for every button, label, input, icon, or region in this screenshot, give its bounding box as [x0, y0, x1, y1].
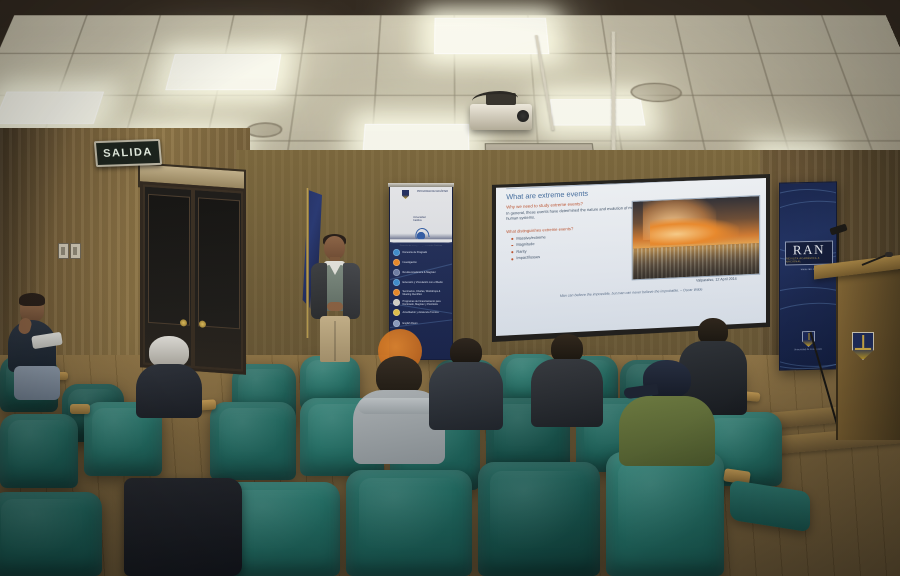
- list-item-label: English Room: [403, 322, 418, 325]
- list-item-label: Revista Académica & Magíster: [403, 271, 436, 274]
- seminar-icon: [393, 289, 400, 296]
- projector-cable: [472, 91, 518, 108]
- auditorium-seat[interactable]: [606, 452, 724, 576]
- list-item-label: Programas de Financiamiento para Doctora…: [403, 300, 450, 306]
- attendee-hair: [19, 293, 45, 306]
- outreach-icon: [393, 279, 400, 286]
- fire-glow: [650, 216, 739, 246]
- projection-screen: Introduction to Extreme Value Theory 4 /…: [496, 178, 766, 336]
- list-item: Seminarios, Charlas, Workshops & Meeting…: [393, 289, 449, 296]
- attendee-torso: [429, 362, 503, 430]
- ceiling-light-panel: [434, 18, 549, 54]
- auditorium-seat[interactable]: [0, 492, 102, 576]
- presentation-slide: Introduction to Extreme Value Theory 4 /…: [496, 178, 766, 336]
- gooseneck-microphone: [862, 248, 892, 274]
- attendee-dark-jacket: [428, 338, 504, 430]
- accreditation-icon: [393, 309, 400, 316]
- presenter-hands: [327, 302, 343, 311]
- projector-lens: [517, 110, 529, 122]
- seat-armrest: [70, 404, 90, 414]
- research-icon: [393, 259, 400, 266]
- attendee-legs: [14, 366, 60, 400]
- list-item: Programas de Financiamiento para Doctora…: [393, 299, 449, 306]
- exit-sign: SALIDA: [94, 139, 162, 167]
- attendee-taking-notes: [2, 296, 62, 400]
- banner-service-list: Docencia de Posgrado Investigación Revis…: [393, 249, 449, 330]
- list-item: Acreditación y Asistencia Técnica: [393, 309, 449, 316]
- list-item: Docencia de Posgrado: [393, 249, 449, 256]
- ran-wordmark-box: RAN REVISTA ACADÉMICA & NACIONAL: [785, 240, 833, 265]
- slide-quote: Man can believe the impossible, but man …: [527, 286, 736, 301]
- list-item-label: Investigación: [403, 261, 417, 264]
- list-item-label: Acreditación y Asistencia Técnica: [403, 311, 439, 314]
- light-switch[interactable]: [70, 243, 81, 259]
- auditorium-seat[interactable]: [478, 462, 600, 576]
- presenter-blazer-left: [311, 263, 327, 319]
- program-logo-icon: [414, 228, 428, 241]
- english-room-icon: [393, 320, 400, 327]
- list-item: Revista Académica & Magíster: [393, 269, 449, 276]
- exit-sign-label: SALIDA: [103, 146, 153, 160]
- funding-icon: [393, 299, 400, 306]
- ceiling-light-panel: [0, 92, 104, 124]
- presenter-blazer-right: [343, 263, 360, 319]
- teaching-icon: [393, 249, 400, 256]
- ceiling-light-panel: [550, 99, 645, 125]
- presenter-speaking: [306, 236, 366, 360]
- journal-icon: [393, 269, 400, 276]
- ceiling-light-panel: [165, 54, 281, 90]
- attendee-grey-hair: [134, 336, 204, 416]
- list-item-label: Seminarios, Charlas, Workshops & Meeting…: [403, 290, 450, 296]
- list-item-label: Docencia de Posgrado: [403, 251, 428, 254]
- lecture-hall-photograph: SALIDA PROGRAMA DE MAGÍSTER Universidad …: [0, 0, 900, 576]
- ran-wordmark: RAN: [793, 242, 825, 256]
- attendee-navy-cap: [618, 352, 716, 462]
- auditorium-seat[interactable]: [346, 470, 472, 576]
- door-glass: [148, 194, 190, 326]
- list-item: Extensión y Vinculación con el Medio: [393, 279, 449, 286]
- photo-caption: Valparaíso, 12 April 2014: [696, 277, 737, 283]
- list-item: Investigación: [393, 259, 449, 266]
- door-glass: [198, 197, 240, 329]
- program-rollup-banner: PROGRAMA DE MAGÍSTER Universidad Católic…: [389, 186, 453, 360]
- wildfire-photograph: [632, 195, 761, 280]
- banner-program-code: PROGRAMA DE MAGÍSTER: [417, 190, 448, 193]
- ceiling-projector: [470, 104, 532, 130]
- auditorium-seat[interactable]: [0, 414, 78, 488]
- university-crest-icon: [852, 332, 874, 360]
- attendee-olive-jacket: [619, 396, 715, 466]
- banner-top-rail: [779, 181, 837, 183]
- ceiling-light-panel: [362, 124, 469, 153]
- light-switch[interactable]: [58, 243, 69, 259]
- attendee-torso: [531, 359, 603, 427]
- draped-coat: [124, 478, 242, 576]
- university-crest-icon: [402, 190, 409, 199]
- auditorium-seat[interactable]: [210, 402, 296, 480]
- door-handle[interactable]: [180, 319, 187, 326]
- banner-top-rail: [388, 183, 454, 187]
- banner-university-name: Universidad Católica: [413, 216, 431, 222]
- hillside-town: [633, 243, 759, 280]
- attendee-dark-coat-centre: [530, 334, 604, 426]
- list-item: English Room: [393, 320, 449, 327]
- attendee-torso: [136, 364, 202, 418]
- door-handle[interactable]: [199, 321, 206, 328]
- banner-header-area: PROGRAMA DE MAGÍSTER Universidad Católic…: [390, 187, 452, 240]
- tripod-leg: [809, 332, 838, 429]
- presenter-trousers: [320, 316, 350, 362]
- list-item-label: Extensión y Vinculación con el Medio: [403, 281, 443, 284]
- ran-subtitle: REVISTA ACADÉMICA & NACIONAL: [786, 257, 832, 264]
- lectern: [836, 270, 900, 440]
